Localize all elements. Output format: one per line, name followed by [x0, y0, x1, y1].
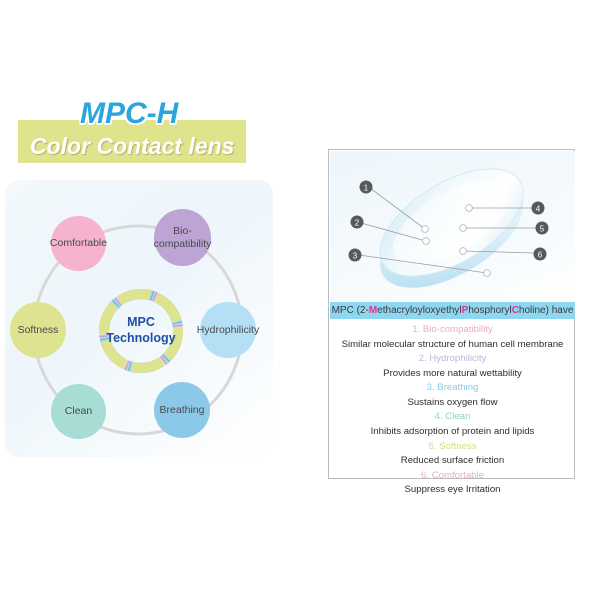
feature-heading-2: 2. Hydrophilicity: [330, 352, 575, 367]
node-bio-compatibility-label-line2: compatibility: [154, 238, 212, 250]
node-bio-compatibility-label-line1: Bio-: [173, 225, 192, 237]
mpc-banner-suffix: holine) have: [519, 305, 573, 316]
callout-label-4: 4: [536, 204, 541, 213]
mpc-definition-banner: MPC (2-Methacryloyloxyethyl PhosphorylCh…: [330, 302, 575, 319]
feature-heading-4: 4. Clean: [330, 410, 575, 425]
node-comfortable[interactable]: Comfortable: [51, 216, 106, 271]
mpc-center-label: MPC Technology: [95, 285, 187, 377]
callout-label-5: 5: [540, 224, 545, 233]
node-clean[interactable]: Clean: [51, 384, 106, 439]
mpc-center-line2: Technology: [106, 331, 175, 347]
feature-desc-3: Sustains oxygen flow: [330, 396, 575, 411]
product-title: MPC-H: [80, 97, 280, 131]
feature-desc-6: Suppress eye Irritation: [330, 483, 575, 498]
mpc-banner-mid1: ethacryloyloxyethyl: [377, 305, 461, 316]
product-subtitle: Color Contact lens: [30, 133, 270, 160]
callout-label-1: 1: [364, 183, 369, 192]
node-bio-compatibility[interactable]: Bio- compatibility: [154, 209, 211, 266]
node-comfortable-label: Comfortable: [50, 237, 107, 249]
feature-desc-2: Provides more natural wettability: [330, 367, 575, 382]
feature-list: 1. Bio-compatibility Similar molecular s…: [330, 323, 575, 498]
callout-label-3: 3: [353, 251, 358, 260]
mpc-banner-p: P: [462, 305, 469, 316]
mpc-banner-mid2: hosphoryl: [468, 305, 511, 316]
node-clean-label: Clean: [51, 405, 106, 417]
right-panel: 1 2 3 4 5 6 MPC (2-Methacryloyloxyethyl …: [328, 149, 575, 479]
mpc-banner-m: M: [369, 305, 377, 316]
node-softness-label: Softness: [10, 324, 66, 336]
mpc-banner-prefix: MPC (2-: [332, 305, 369, 316]
feature-heading-1: 1. Bio-compatibility: [330, 323, 575, 338]
lens-illustration-area: 1 2 3 4 5 6: [330, 151, 575, 302]
feature-desc-5: Reduced surface friction: [330, 454, 575, 469]
feature-desc-4: Inhibits adsorption of protein and lipid…: [330, 425, 575, 440]
mpc-center-ring: MPC Technology: [95, 285, 187, 377]
contact-lens-diagram: 1 2 3 4 5 6: [330, 151, 575, 302]
node-breathing-label: Breathing: [154, 404, 210, 416]
feature-heading-3: 3. Breathing: [330, 381, 575, 396]
feature-heading-6: 6. Comfortable: [330, 469, 575, 484]
node-hydrophilicity[interactable]: Hydrophilicity: [200, 302, 256, 358]
callout-label-2: 2: [355, 218, 360, 227]
left-panel: MPC-H Color Contact lens Comfortable Bio…: [0, 0, 300, 600]
mpc-center-line1: MPC: [127, 315, 155, 331]
feature-heading-5: 5. Softness: [330, 440, 575, 455]
node-softness[interactable]: Softness: [10, 302, 66, 358]
mpc-banner-c: C: [512, 305, 519, 316]
node-hydrophilicity-label: Hydrophilicity: [197, 324, 259, 336]
feature-desc-1: Similar molecular structure of human cel…: [330, 338, 575, 353]
callout-label-6: 6: [538, 250, 543, 259]
node-breathing[interactable]: Breathing: [154, 382, 210, 438]
